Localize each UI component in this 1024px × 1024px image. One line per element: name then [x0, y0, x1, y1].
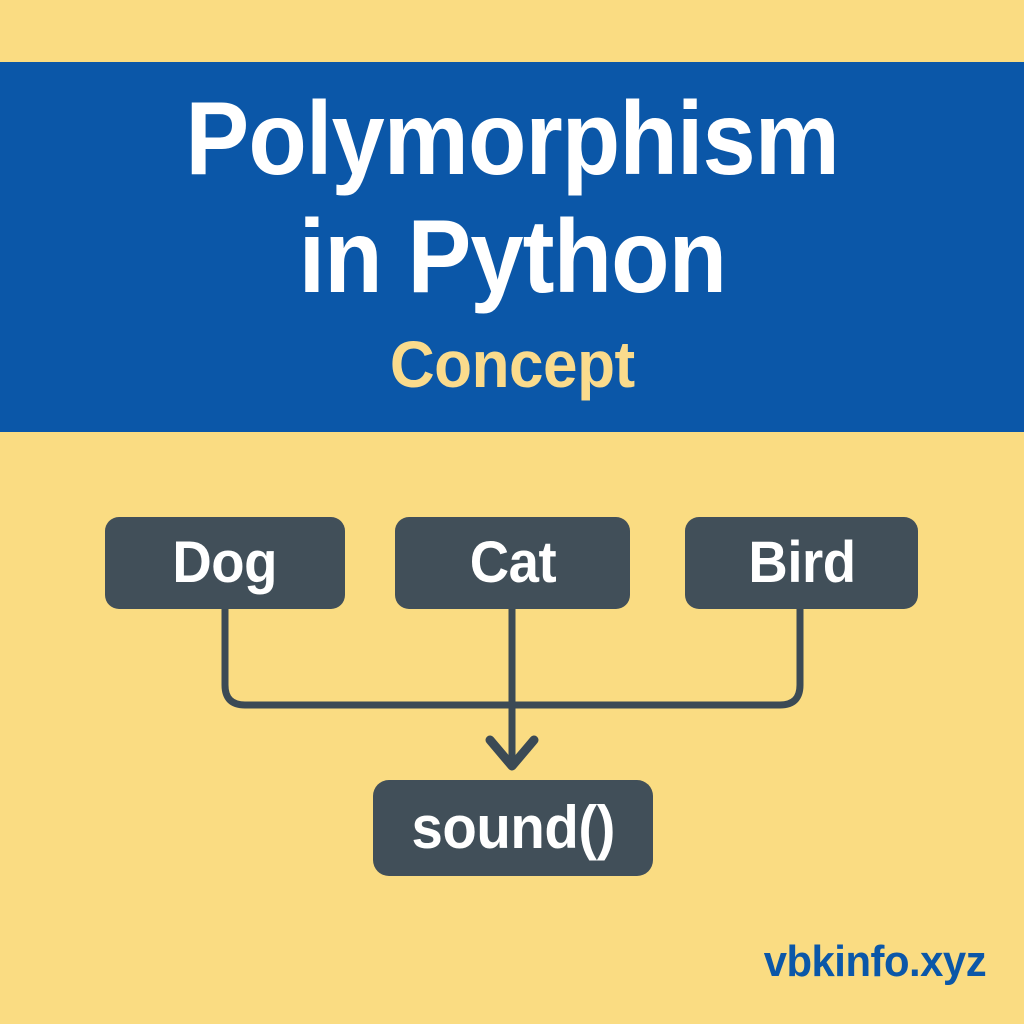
connector-dog-to-rail: [225, 608, 512, 705]
page-title-line-1: Polymorphism: [185, 80, 839, 198]
node-dog[interactable]: Dog: [105, 517, 345, 609]
node-cat-label: Cat: [469, 534, 555, 592]
page-subtitle: Concept: [390, 326, 635, 402]
connector-bird-to-rail: [512, 608, 800, 705]
site-watermark: vbkinfo.xyz: [764, 938, 986, 986]
node-dog-label: Dog: [173, 534, 278, 592]
node-bird-label: Bird: [748, 534, 855, 592]
page-title-line-2: in Python: [298, 198, 726, 316]
node-sound-method[interactable]: sound(): [373, 780, 653, 876]
node-bird[interactable]: Bird: [685, 517, 918, 609]
arrow-down-icon: [490, 740, 534, 766]
poster-canvas: Polymorphism in Python Concept Dog Cat B…: [0, 0, 1024, 1024]
node-sound-method-label: sound(): [411, 799, 614, 857]
header-banner: Polymorphism in Python Concept: [0, 62, 1024, 432]
node-cat[interactable]: Cat: [395, 517, 630, 609]
